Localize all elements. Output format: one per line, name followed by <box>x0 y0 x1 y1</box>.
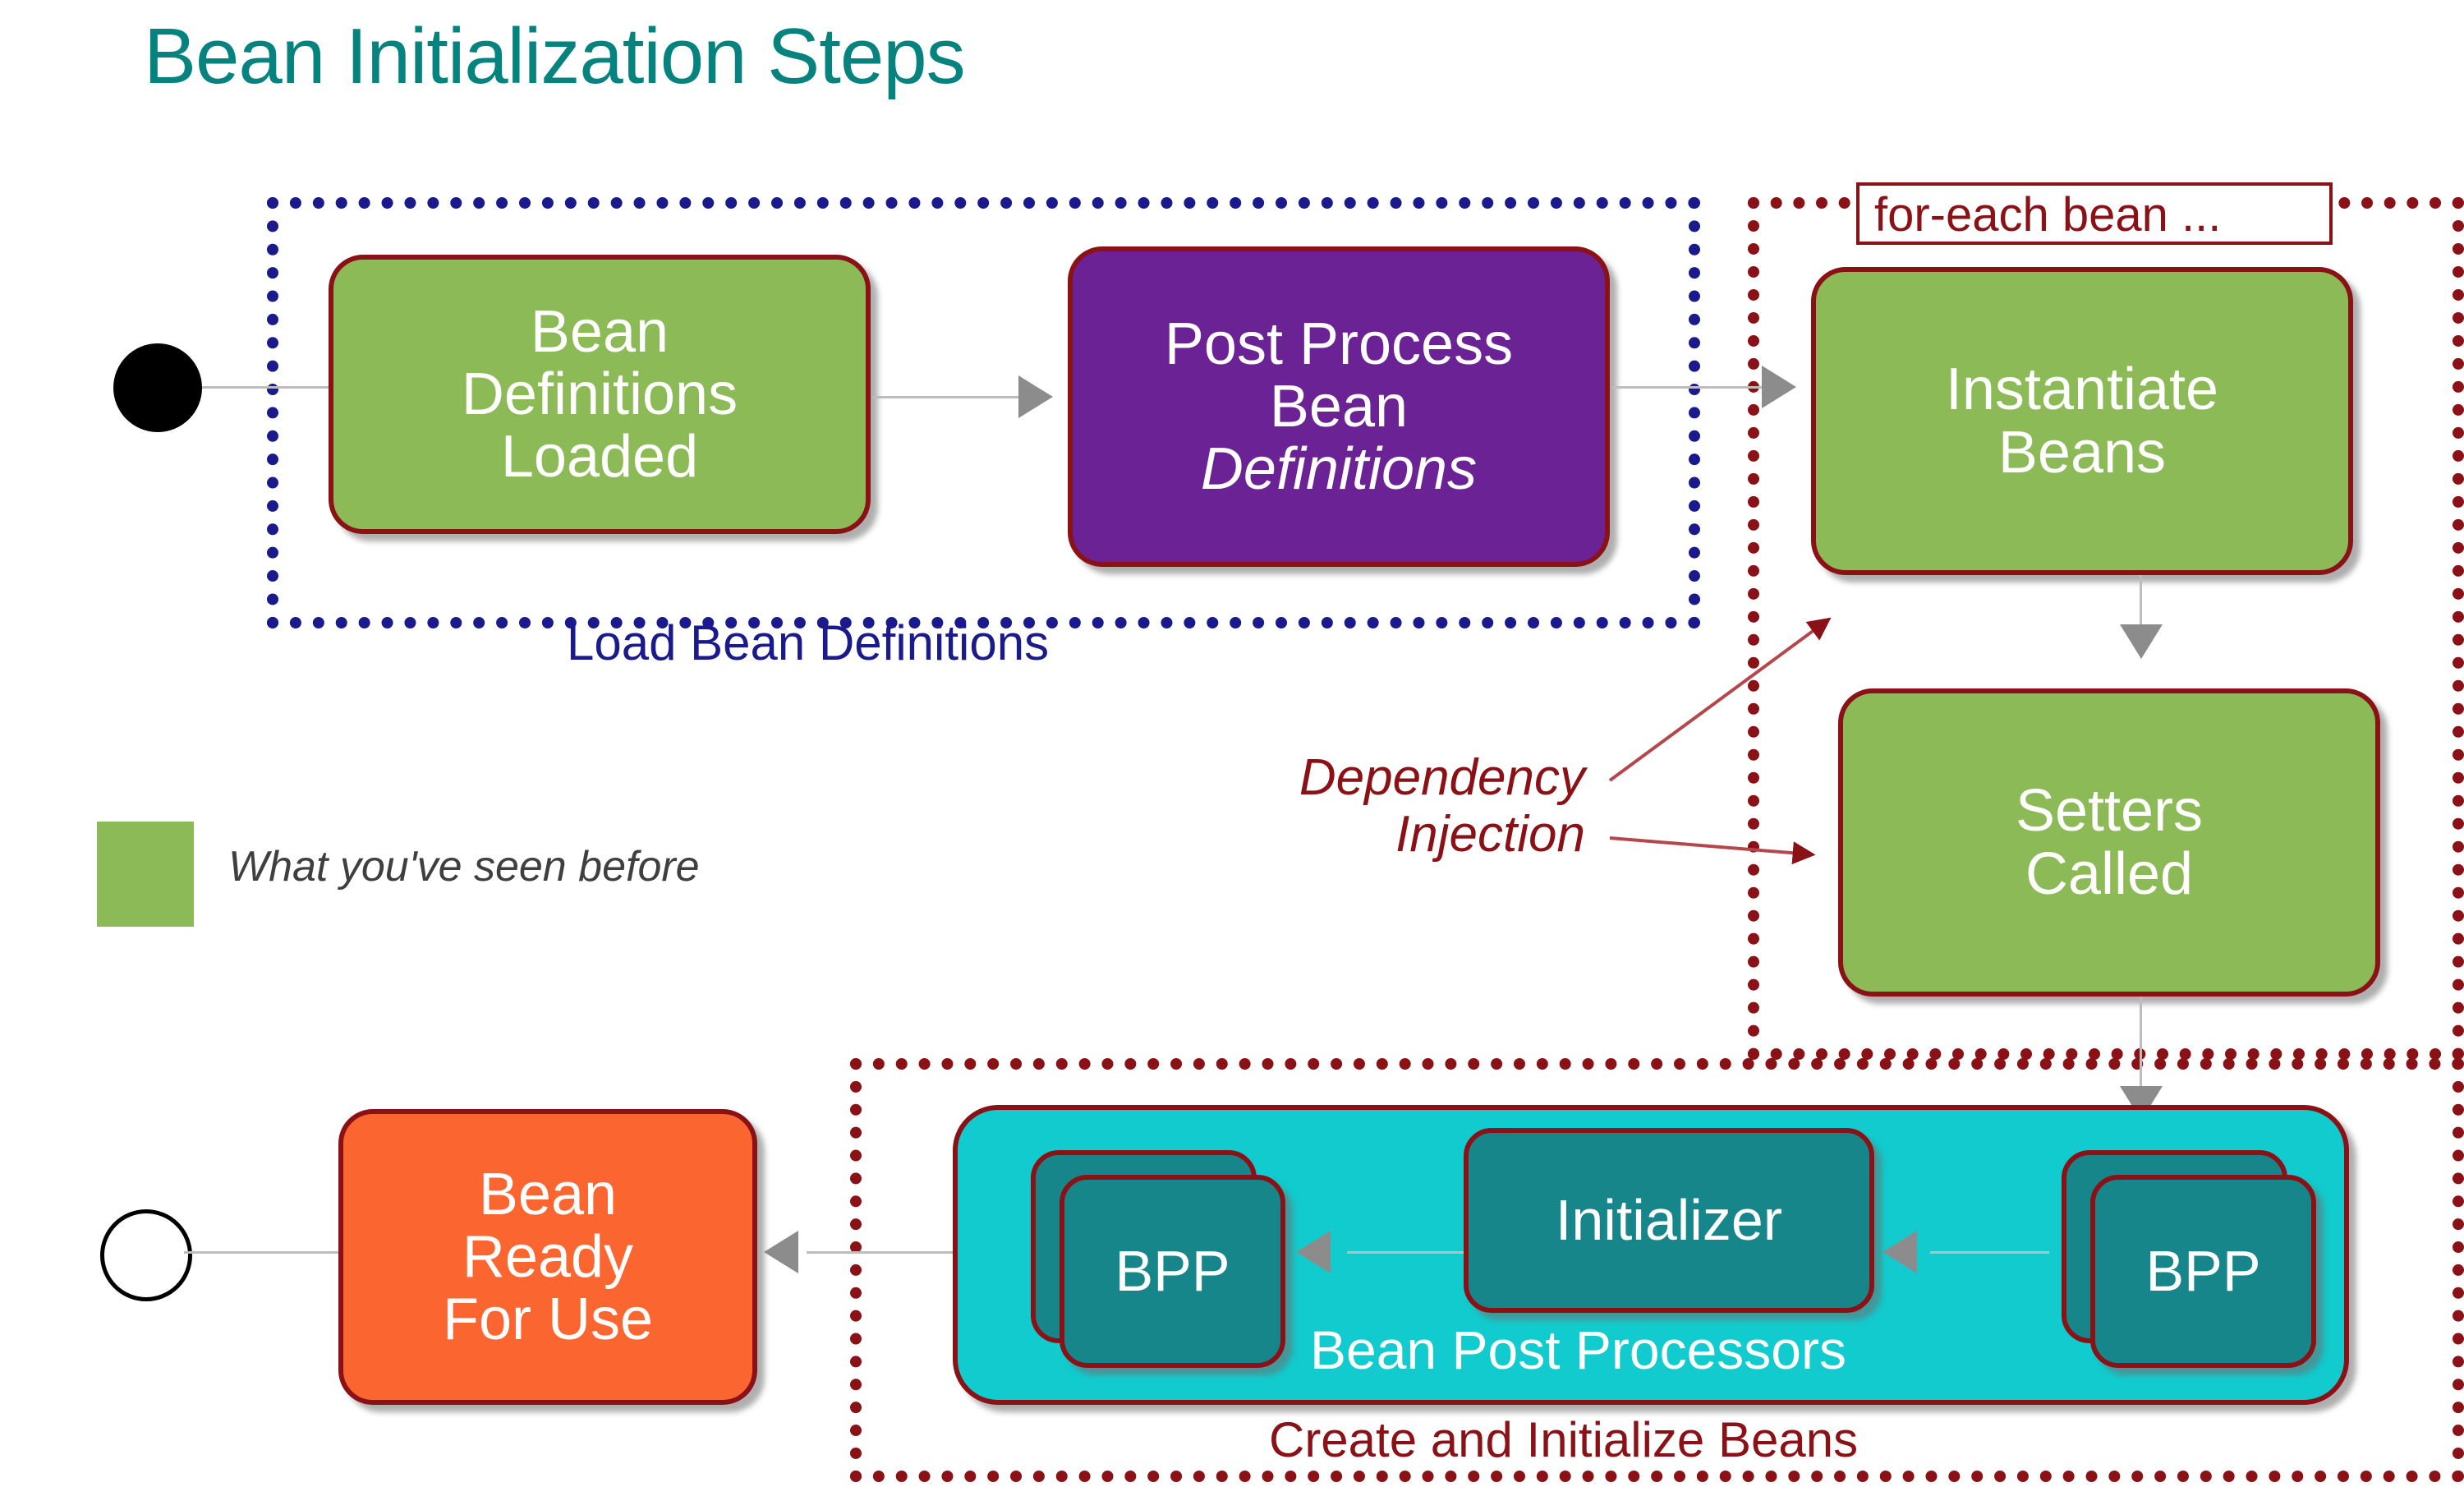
arrow-to-bean-ready-for-use <box>764 1231 798 1273</box>
bpp-right-label: BPP <box>2139 1241 2267 1301</box>
node-line: For Use <box>443 1288 653 1351</box>
arrow-to-bpp-left <box>1296 1231 1331 1273</box>
node-line: Called <box>2016 843 2203 905</box>
end-terminator <box>100 1209 192 1301</box>
for-each-bean-callout: for-each bean ... <box>1856 182 2333 245</box>
node-line: Loaded <box>462 426 738 488</box>
diagram-canvas: Bean Initialization Steps Load Bean Defi… <box>0 0 2464 1487</box>
node-line: Beans <box>1946 421 2218 484</box>
connector-bean-definitions-to-post-process <box>872 396 1020 398</box>
node-line: Definitions <box>462 363 738 426</box>
node-bpp-right: BPP <box>2090 1175 2316 1368</box>
node-instantiate-beans: Instantiate Beans <box>1811 267 2353 575</box>
connector-bpp-right-to-initializer <box>1930 1251 2049 1254</box>
node-line: Instantiate <box>1946 358 2218 421</box>
connector-end-to-bean-ready <box>184 1251 340 1254</box>
start-terminator <box>113 343 202 432</box>
bean-post-processors-label: Bean Post Processors <box>1310 1319 1846 1381</box>
arrow-to-setters-called <box>2120 624 2163 659</box>
group-create-and-initialize-beans-label: Create and Initialize Beans <box>1269 1411 1858 1468</box>
node-line: Ready <box>443 1226 653 1288</box>
node-initializer: Initializer <box>1464 1128 1874 1313</box>
node-post-process-bean-definitions: Post Process Bean Definitions <box>1068 246 1610 567</box>
node-line-italic: Definitions <box>1165 438 1513 500</box>
connector-bpp-to-bean-ready <box>807 1251 963 1254</box>
connector-initializer-to-bpp-left <box>1347 1251 1466 1254</box>
bpp-left-label: BPP <box>1108 1241 1236 1301</box>
node-bpp-left: BPP <box>1060 1175 1285 1368</box>
dependency-injection-line2: Injection <box>1183 806 1585 863</box>
node-line: Bean <box>462 301 738 363</box>
group-load-bean-definitions-label: Load Bean Definitions <box>567 615 1049 671</box>
arrow-to-post-process <box>1018 375 1053 418</box>
page-title: Bean Initialization Steps <box>144 12 965 102</box>
arrow-to-instantiate-beans <box>1762 366 1796 408</box>
node-line: Bean <box>443 1163 653 1226</box>
connector-post-process-to-instantiate <box>1611 386 1763 389</box>
node-line: Bean <box>1165 375 1513 438</box>
dependency-injection-line1: Dependency <box>1183 749 1585 806</box>
connector-start-to-bean-definitions <box>202 386 333 389</box>
dependency-injection-annotation: Dependency Injection <box>1183 749 1585 863</box>
legend-color-swatch <box>97 822 194 927</box>
node-bean-definitions-loaded: Bean Definitions Loaded <box>329 255 871 534</box>
arrow-to-initializer <box>1882 1231 1917 1273</box>
node-line: Post Process <box>1165 313 1513 375</box>
node-setters-called: Setters Called <box>1838 688 2380 997</box>
node-bean-ready-for-use: Bean Ready For Use <box>338 1109 757 1405</box>
initializer-label: Initializer <box>1549 1190 1789 1250</box>
node-line: Setters <box>2016 780 2203 842</box>
legend-label: What you've seen before <box>228 842 700 891</box>
